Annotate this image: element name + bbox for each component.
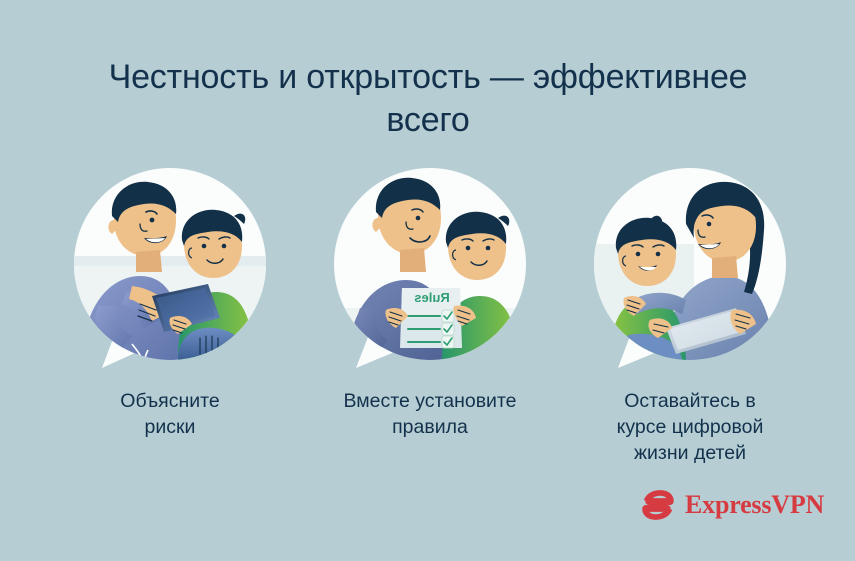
- card-caption: Оставайтесь в курсе цифровой жизни детей: [617, 388, 764, 466]
- page-title: Честность и открытость — эффективнее все…: [78, 56, 778, 142]
- rules-sheet-label: Rules: [414, 290, 449, 305]
- expressvpn-e-mark: [640, 487, 676, 523]
- expressvpn-wordmark: ExpressVPN: [685, 492, 824, 518]
- illustration-father-explaining-risks: [74, 168, 266, 368]
- rules-sheet: Rules: [400, 288, 462, 348]
- illustration-father-and-son-with-rules-sheet: Rules: [334, 168, 526, 368]
- infographic-poster: Честность и открытость — эффективнее все…: [0, 0, 855, 561]
- card-row: Объясните риски: [60, 168, 800, 466]
- illustration-mother-and-son-with-tablet: [594, 168, 786, 368]
- card-caption: Вместе установите правила: [343, 388, 516, 440]
- card-caption: Объясните риски: [120, 388, 219, 440]
- expressvpn-logo[interactable]: ExpressVPN: [640, 487, 824, 523]
- card-stay-informed: Оставайтесь в курсе цифровой жизни детей: [580, 168, 800, 466]
- card-set-rules-together: Rules: [320, 168, 540, 440]
- card-explain-risks: Объясните риски: [60, 168, 280, 440]
